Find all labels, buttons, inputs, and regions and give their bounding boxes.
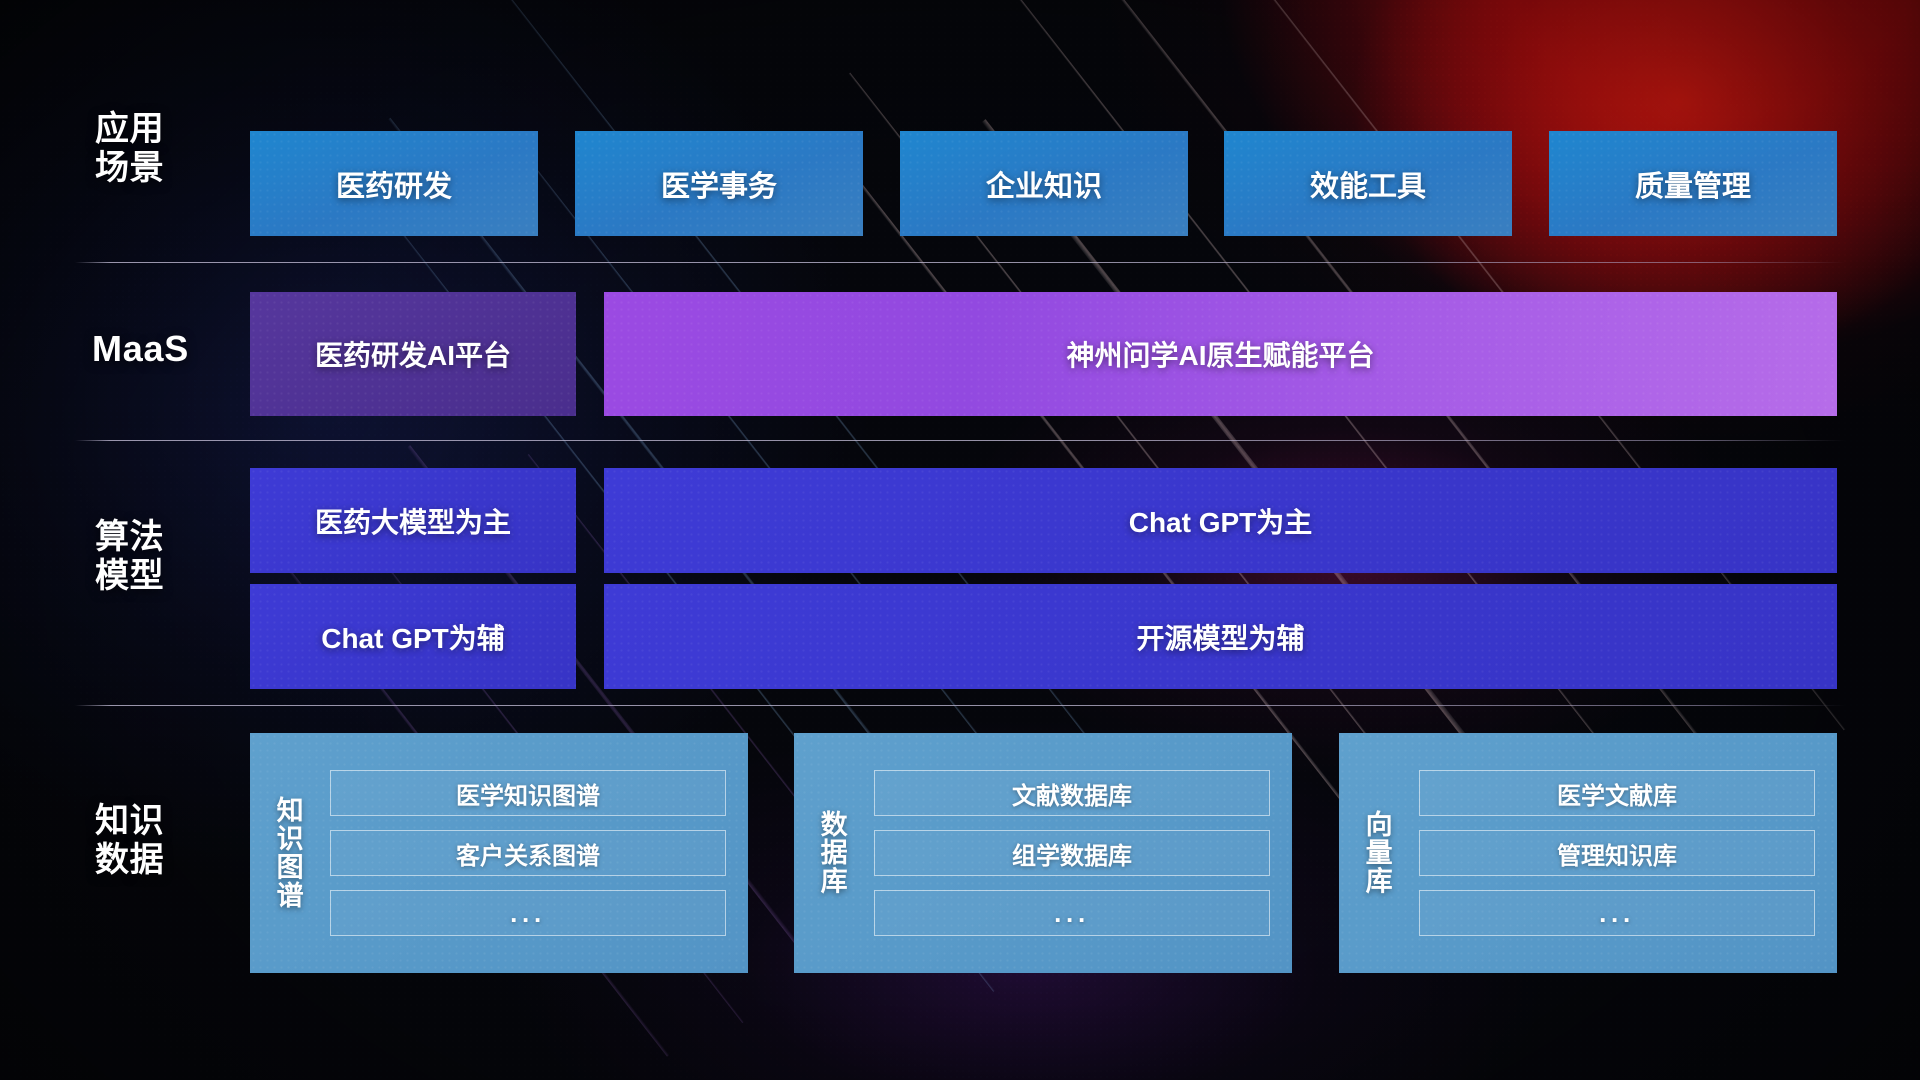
knowledge-group-vector-database[interactable]: 向量库 医学文献库 管理知识库 ... [1339, 733, 1837, 973]
knowledge-group-vector-database-title: 向量库 [1339, 733, 1413, 973]
row-label-algo-line-2: 模型 [95, 557, 225, 596]
row-label-knowledge-line-1: 知识 [95, 802, 225, 841]
app-box-drug-rd-label: 医药研发 [336, 163, 452, 205]
vector-item-more-ellipsis[interactable]: ... [1419, 890, 1815, 936]
database-item-omics-database[interactable]: 组学数据库 [874, 830, 1270, 876]
row-label-line-2: 场景 [95, 149, 225, 188]
app-box-quality-management[interactable]: 质量管理 [1549, 131, 1837, 236]
knowledge-item-more-ellipsis[interactable]: ... [330, 890, 726, 936]
row-label-knowledge-line-2: 数据 [95, 841, 225, 880]
maas-box-drug-rd-ai-platform-label: 医药研发AI平台 [315, 334, 511, 374]
maas-box-drug-rd-ai-platform[interactable]: 医药研发AI平台 [250, 292, 576, 416]
knowledge-group-knowledge-graph[interactable]: 知识图谱 医学知识图谱 客户关系图谱 ... [250, 733, 748, 973]
algo-box-opensource-secondary[interactable]: 开源模型为辅 [604, 584, 1837, 689]
knowledge-item-customer-relation-graph[interactable]: 客户关系图谱 [330, 830, 726, 876]
app-box-quality-management-label: 质量管理 [1635, 163, 1751, 205]
knowledge-item-medical-knowledge-graph[interactable]: 医学知识图谱 [330, 770, 726, 816]
knowledge-group-database-title: 数据库 [794, 733, 868, 973]
divider-after-application-scenarios [75, 262, 1845, 263]
knowledge-group-knowledge-graph-items: 医学知识图谱 客户关系图谱 ... [324, 733, 748, 973]
divider-after-algorithm-model [75, 705, 1845, 706]
knowledge-group-knowledge-graph-title: 知识图谱 [250, 733, 324, 973]
app-box-enterprise-knowledge[interactable]: 企业知识 [900, 131, 1188, 236]
maas-box-shenzhou-wenxue-platform-label: 神州问学AI原生赋能平台 [1066, 334, 1374, 374]
architecture-diagram: 应用 场景 医药研发 医学事务 企业知识 效能工具 质量管理 MaaS 医药研发… [0, 0, 1920, 1080]
row-label-maas-text: MaaS [92, 328, 272, 369]
algo-box-chatgpt-secondary[interactable]: Chat GPT为辅 [250, 584, 576, 689]
algo-box-pharma-llm-primary[interactable]: 医药大模型为主 [250, 468, 576, 573]
algo-box-chatgpt-primary-label: Chat GPT为主 [1129, 501, 1313, 541]
knowledge-group-vector-database-items: 医学文献库 管理知识库 ... [1413, 733, 1837, 973]
app-box-enterprise-knowledge-label: 企业知识 [986, 163, 1102, 205]
row-label-maas: MaaS [92, 328, 272, 369]
algo-box-pharma-llm-primary-label: 医药大模型为主 [315, 501, 511, 541]
app-box-efficiency-tools-label: 效能工具 [1310, 163, 1426, 205]
database-item-more-ellipsis[interactable]: ... [874, 890, 1270, 936]
algo-box-chatgpt-secondary-label: Chat GPT为辅 [321, 617, 505, 657]
app-box-medical-affairs[interactable]: 医学事务 [575, 131, 863, 236]
row-label-algorithm-model: 算法 模型 [95, 518, 225, 596]
row-label-knowledge-data: 知识 数据 [95, 802, 225, 880]
algo-box-opensource-secondary-label: 开源模型为辅 [1136, 617, 1304, 657]
maas-box-shenzhou-wenxue-platform[interactable]: 神州问学AI原生赋能平台 [604, 292, 1837, 416]
row-label-application-scenarios: 应用 场景 [95, 110, 225, 188]
database-item-literature-database[interactable]: 文献数据库 [874, 770, 1270, 816]
knowledge-group-database-items: 文献数据库 组学数据库 ... [868, 733, 1292, 973]
row-label-algo-line-1: 算法 [95, 518, 225, 557]
row-label-line-1: 应用 [95, 110, 225, 149]
app-box-drug-rd[interactable]: 医药研发 [250, 131, 538, 236]
vector-item-management-knowledge-library[interactable]: 管理知识库 [1419, 830, 1815, 876]
app-box-efficiency-tools[interactable]: 效能工具 [1224, 131, 1512, 236]
vector-item-medical-literature-library[interactable]: 医学文献库 [1419, 770, 1815, 816]
divider-after-maas [75, 440, 1845, 441]
algo-box-chatgpt-primary[interactable]: Chat GPT为主 [604, 468, 1837, 573]
app-box-medical-affairs-label: 医学事务 [661, 163, 777, 205]
knowledge-group-database[interactable]: 数据库 文献数据库 组学数据库 ... [794, 733, 1292, 973]
